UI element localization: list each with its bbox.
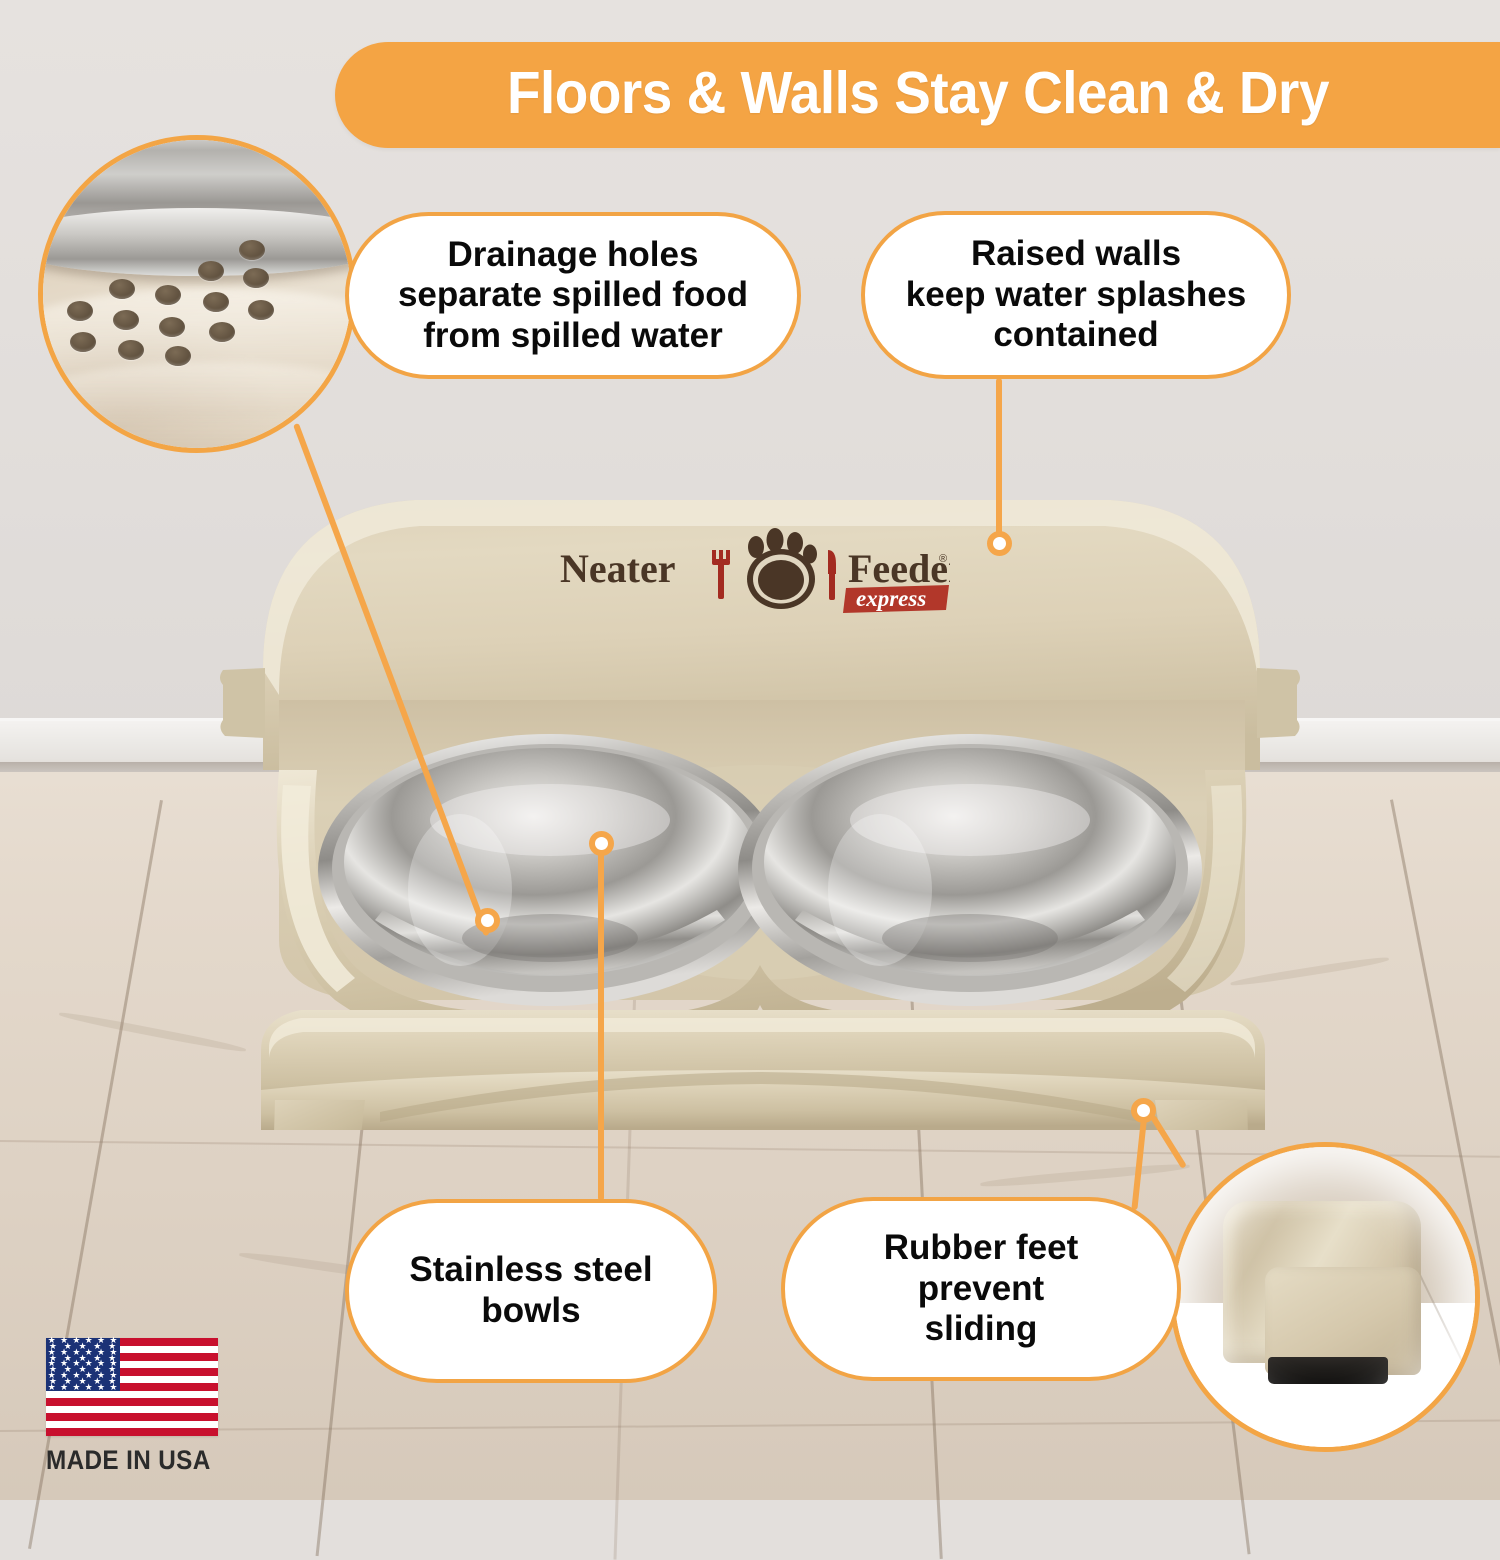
callout-line: Rubber feet xyxy=(884,1228,1078,1267)
logo-sub-brand-text: express xyxy=(856,586,926,611)
callout-rubber-feet[interactable]: Rubber feet prevent sliding xyxy=(781,1197,1181,1381)
rubber-foot-closeup-inset xyxy=(1170,1142,1480,1452)
flag-star: ★ xyxy=(85,1383,93,1392)
fork-icon xyxy=(712,550,730,599)
logo-registered-mark: ® xyxy=(939,553,947,565)
callout-line: Raised walls xyxy=(971,234,1181,273)
flag-star: ★ xyxy=(60,1383,68,1392)
made-in-usa-badge: ★★★★★★★★★★★★★★★★★★★★★★★★★★★★★★★★★★★★★★★★… xyxy=(46,1338,224,1476)
connector-dot-stainless-bowls xyxy=(589,831,614,856)
flag-star: ★ xyxy=(72,1383,80,1392)
connector-dot-drainage xyxy=(475,908,500,933)
drainage-hole xyxy=(159,317,185,337)
drainage-hole xyxy=(198,261,224,281)
flag-star: ★ xyxy=(97,1383,105,1392)
drainage-hole xyxy=(239,240,265,260)
drainage-hole xyxy=(155,285,181,305)
united-states-flag-icon: ★★★★★★★★★★★★★★★★★★★★★★★★★★★★★★★★★★★★★★★★… xyxy=(46,1338,218,1436)
connector-line-stainless-bowls xyxy=(598,843,604,1201)
knife-icon xyxy=(828,550,836,600)
drainage-hole xyxy=(209,322,235,342)
bowl-right xyxy=(738,734,1202,1006)
flag-star: ★ xyxy=(109,1383,117,1392)
bowl-left xyxy=(318,734,782,1006)
drainage-hole xyxy=(67,301,93,321)
drainage-hole xyxy=(113,310,139,330)
express-banner: express xyxy=(843,585,949,613)
callout-line: sliding xyxy=(925,1309,1038,1348)
callout-stainless-steel-bowls[interactable]: Stainless steel bowls xyxy=(345,1199,717,1383)
logo-brand-right-text: Feeder xyxy=(848,546,950,591)
callout-line: separate spilled food xyxy=(398,275,748,314)
callout-line: from spilled water xyxy=(423,316,723,355)
callout-line: Stainless steel xyxy=(409,1250,652,1289)
drainage-holes-closeup-inset xyxy=(38,135,356,453)
drainage-hole xyxy=(118,340,144,360)
flag-canton: ★★★★★★★★★★★★★★★★★★★★★★★★★★★★★★★★★★★★★★★★… xyxy=(46,1338,120,1391)
connector-dot-rubber-feet xyxy=(1131,1098,1156,1123)
drainage-hole xyxy=(243,268,269,288)
drainage-hole xyxy=(248,300,274,320)
product-infographic-scene: Neater xyxy=(0,0,1500,1500)
drainage-hole xyxy=(109,279,135,299)
header-banner: Floors & Walls Stay Clean & Dry xyxy=(335,42,1500,148)
callout-line: keep water splashes xyxy=(906,275,1246,314)
logo-brand-left-text: Neater xyxy=(560,546,675,591)
drainage-hole xyxy=(203,292,229,312)
made-in-usa-label: MADE IN USA xyxy=(46,1445,206,1476)
callout-line: bowls xyxy=(481,1291,580,1330)
connector-line-raised-walls xyxy=(996,378,1002,543)
callout-line: Drainage holes xyxy=(448,235,699,274)
callout-line: prevent xyxy=(918,1269,1044,1308)
callout-raised-walls[interactable]: Raised walls keep water splashes contain… xyxy=(861,211,1291,379)
flag-star: ★ xyxy=(48,1383,56,1392)
drainage-hole xyxy=(70,332,96,352)
callout-line: contained xyxy=(993,315,1158,354)
banner-title: Floors & Walls Stay Clean & Dry xyxy=(506,59,1328,131)
connector-dot-raised-walls xyxy=(987,531,1012,556)
product-logo: Neater xyxy=(560,528,950,618)
callout-drainage-holes[interactable]: Drainage holes separate spilled food fro… xyxy=(345,212,801,379)
drainage-hole xyxy=(165,346,191,366)
